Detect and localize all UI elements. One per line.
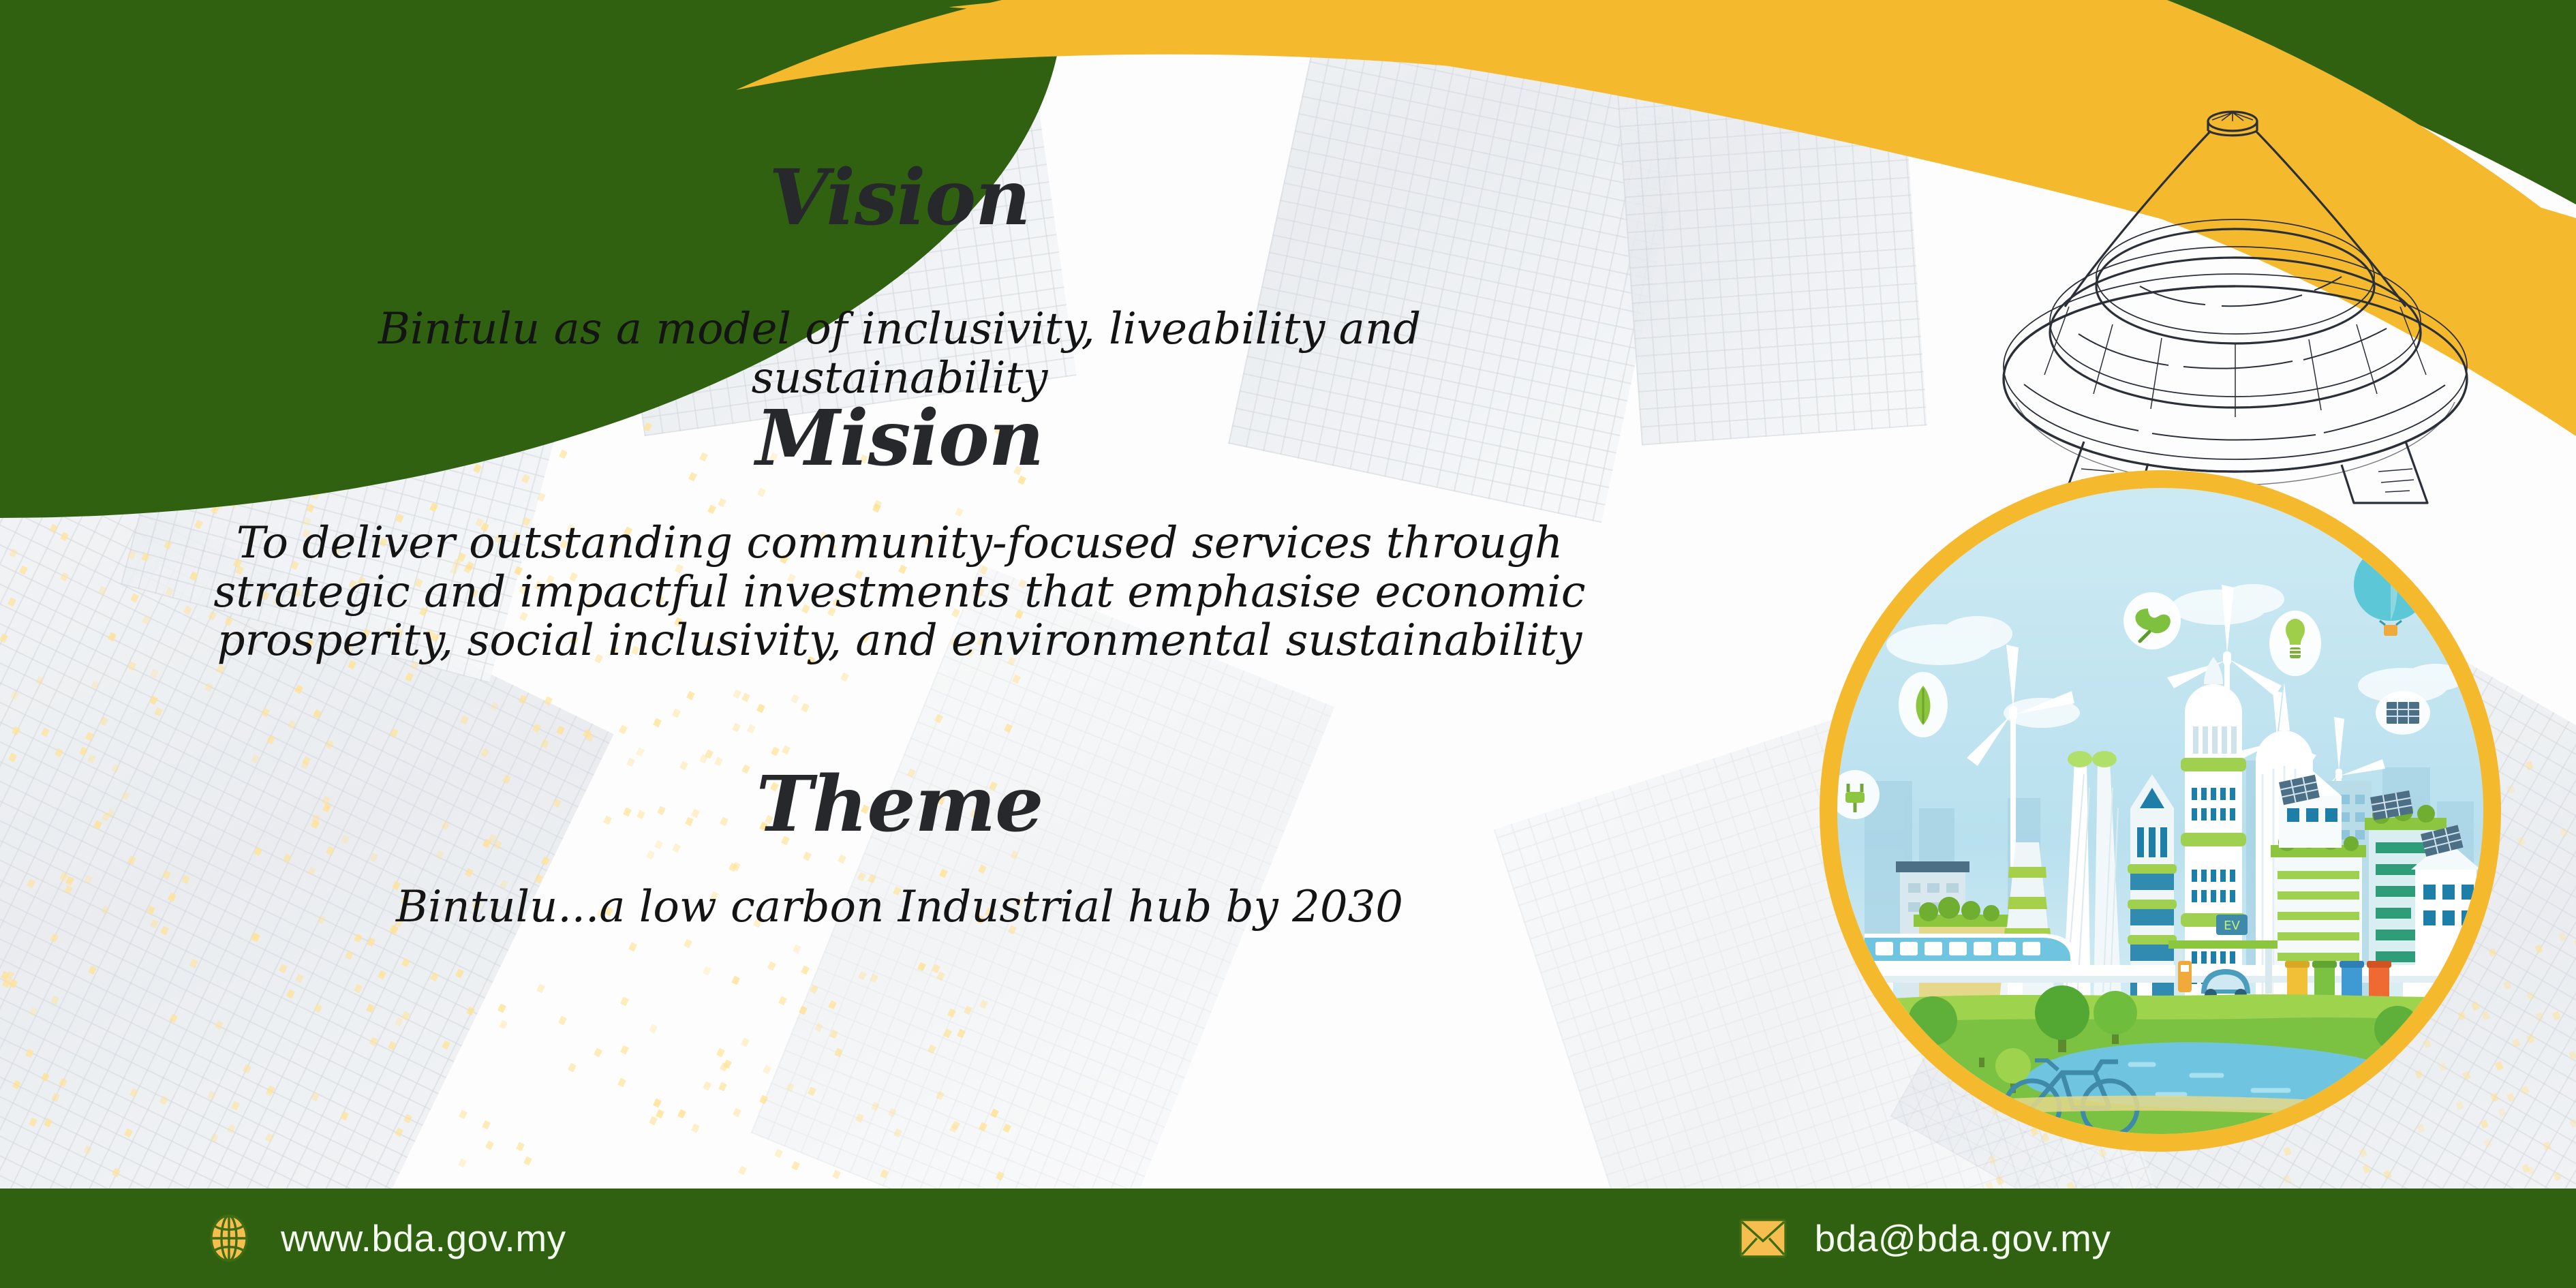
vision-heading: Vision bbox=[559, 160, 1240, 236]
mission-line-1: To deliver outstanding community-focused… bbox=[204, 519, 1595, 568]
mission-statement: To deliver outstanding community-focused… bbox=[204, 519, 1595, 666]
theme-heading: Theme bbox=[559, 767, 1240, 843]
envelope-icon bbox=[1738, 1218, 1788, 1259]
email-contact[interactable]: bda@bda.gov.my bbox=[1738, 1216, 2111, 1260]
contact-footer: www.bda.gov.my bda@bda.gov.my bbox=[0, 1189, 2576, 1288]
banner-canvas: EV bbox=[0, 0, 2576, 1288]
globe-icon bbox=[204, 1214, 254, 1263]
vision-mission-theme-content: Vision Bintulu as a model of inclusivity… bbox=[0, 0, 1799, 1159]
email-label: bda@bda.gov.my bbox=[1815, 1216, 2111, 1260]
mission-line-2: strategic and impactful investments that… bbox=[204, 568, 1595, 617]
website-label: www.bda.gov.my bbox=[281, 1216, 566, 1260]
theme-statement: Bintulu...a low carbon Industrial hub by… bbox=[286, 883, 1513, 932]
vision-statement: Bintulu as a model of inclusivity, livea… bbox=[225, 305, 1574, 403]
website-contact[interactable]: www.bda.gov.my bbox=[204, 1214, 566, 1263]
mission-heading: Mision bbox=[559, 401, 1240, 477]
svg-text:EV: EV bbox=[2224, 919, 2240, 933]
mission-line-3: prosperity, social inclusivity, and envi… bbox=[204, 617, 1595, 666]
dewan-suarah-illustration bbox=[1935, 82, 2576, 504]
eco-city-illustration: EV bbox=[1820, 470, 2501, 1152]
